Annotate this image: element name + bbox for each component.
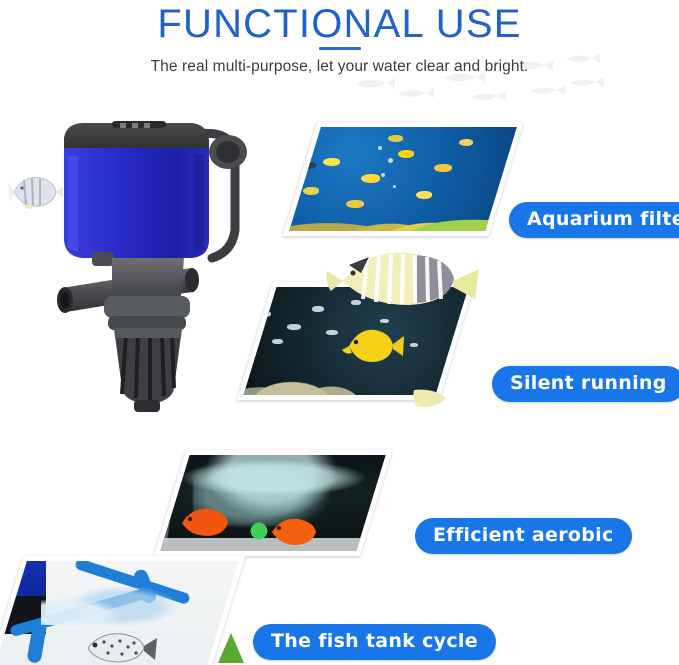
feature-photo-efficient-aerobic bbox=[154, 450, 392, 556]
page-subtitle: The real multi-purpose, let your water c… bbox=[0, 58, 679, 76]
title-divider bbox=[319, 47, 361, 50]
fish-tail-decor-icon bbox=[412, 386, 460, 412]
feature-badge-fish-tank-cycle[interactable]: The fish tank cycle bbox=[253, 624, 496, 660]
green-plant-decor-icon bbox=[218, 633, 244, 663]
header: FUNCTIONAL USE The real multi-purpose, l… bbox=[0, 0, 679, 100]
feature-photo-aquarium-filter bbox=[283, 122, 524, 236]
page-title: FUNCTIONAL USE bbox=[0, 2, 679, 47]
aquarium-pump-product-image bbox=[16, 112, 266, 412]
feature-badge-aquarium-filter[interactable]: Aquarium filter bbox=[509, 202, 679, 238]
feature-badge-silent-running[interactable]: Silent running bbox=[492, 366, 679, 402]
fish-school-watermark-icon bbox=[352, 48, 612, 106]
feature-badge-efficient-aerobic[interactable]: Efficient aerobic bbox=[415, 518, 632, 554]
product-feature-page: FUNCTIONAL USE The real multi-purpose, l… bbox=[0, 0, 679, 665]
feature-photo-fish-tank-cycle bbox=[0, 556, 245, 665]
striped-butterflyfish-decor-icon bbox=[323, 243, 483, 313]
